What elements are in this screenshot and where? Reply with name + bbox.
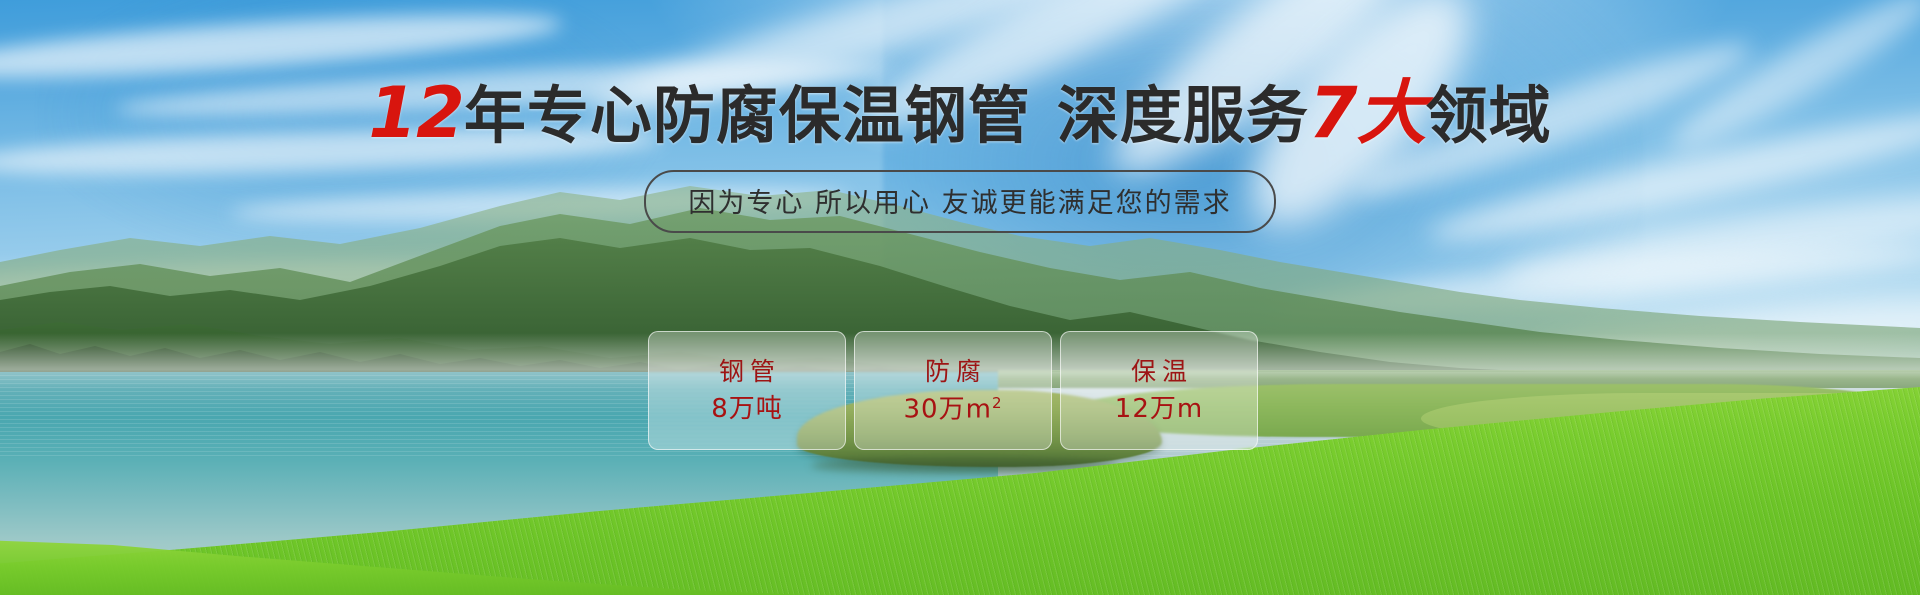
headline-third-text: 领域 [1426, 79, 1552, 152]
stat-value-text: 12万m [1115, 394, 1203, 424]
headline-main-text: 年专心防腐保温钢管 [464, 79, 1031, 152]
headline-seven-fields: 7大 [1309, 72, 1426, 154]
stat-card-value: 8万吨 [711, 396, 783, 422]
stat-card-label: 保温 [1125, 359, 1193, 384]
stat-value-text: 8万吨 [711, 394, 783, 424]
subtitle-container: 因为专心 所以用心 友诚更能满足您的需求 [0, 170, 1920, 233]
subtitle-pill: 因为专心 所以用心 友诚更能满足您的需求 [644, 170, 1275, 233]
promo-banner: 12年专心防腐保温钢管深度服务7大领域 因为专心 所以用心 友诚更能满足您的需求… [0, 0, 1920, 595]
stat-card-group: 钢管 8万吨 防腐 30万m2 保温 12万m [648, 331, 1258, 450]
banner-content: 12年专心防腐保温钢管深度服务7大领域 因为专心 所以用心 友诚更能满足您的需求… [0, 0, 1920, 595]
stat-card-label: 防腐 [919, 359, 987, 384]
stat-card-insulation[interactable]: 保温 12万m [1060, 331, 1258, 450]
stat-card-value: 12万m [1115, 396, 1203, 422]
stat-card-value: 30万m2 [904, 396, 1003, 423]
stat-card-label: 钢管 [713, 359, 781, 384]
headline-years-number: 12 [368, 72, 463, 154]
headline-second-text: 深度服务 [1057, 79, 1309, 152]
stat-card-steel-pipe[interactable]: 钢管 8万吨 [648, 331, 846, 450]
headline: 12年专心防腐保温钢管深度服务7大领域 [0, 78, 1920, 148]
stat-value-text: 30万m [904, 394, 992, 424]
stat-card-anticorrosion[interactable]: 防腐 30万m2 [854, 331, 1052, 450]
stat-value-superscript: 2 [992, 394, 1003, 412]
